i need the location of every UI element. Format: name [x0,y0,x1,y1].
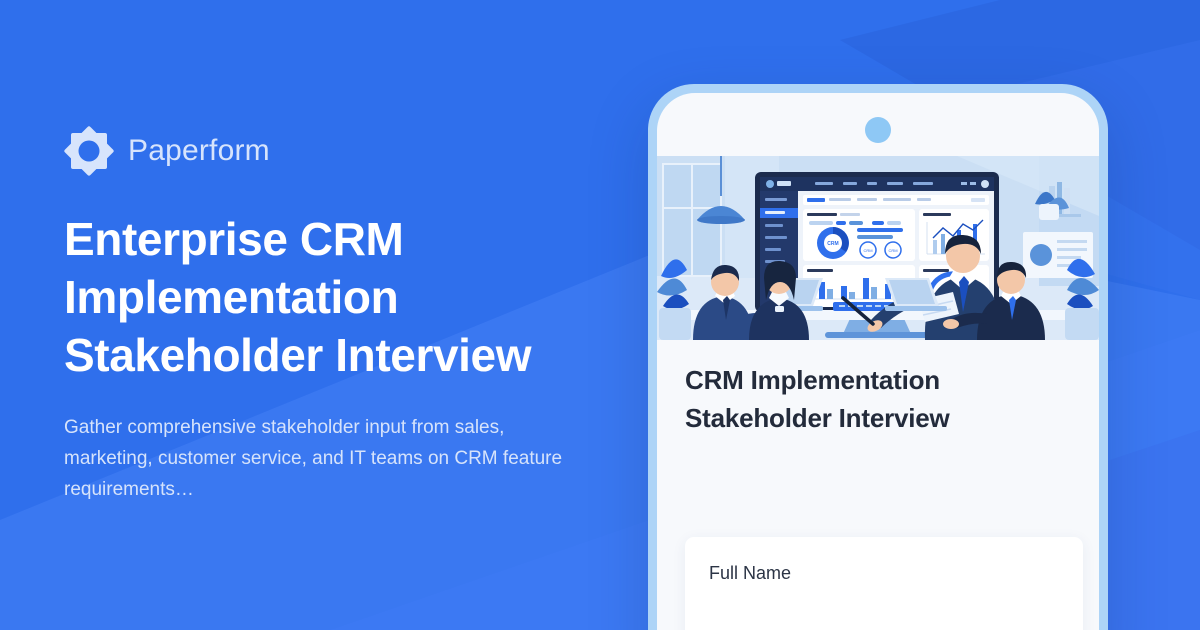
crm-team-meeting-illustration: CRM CRM CRM [657,156,1099,340]
front-camera-dot-icon [865,117,891,143]
form-title: CRM Implementation Stakeholder Interview [685,361,1055,437]
paperform-star-logo-icon [64,126,114,176]
phone-screen: CRM CRM CRM [657,93,1099,630]
hero-text-column: Paperform Enterprise CRM Implementation … [64,0,624,630]
phone-mockup: CRM CRM CRM [648,84,1108,630]
svg-text:CRM: CRM [827,241,838,247]
svg-text:CRM: CRM [888,248,897,253]
brand-lockup: Paperform [64,126,624,176]
brand-name: Paperform [128,134,270,168]
svg-text:CRM: CRM [863,248,872,253]
page-title: Enterprise CRM Implementation Stakeholde… [64,210,604,384]
full-name-input[interactable] [709,597,1059,630]
full-name-label: Full Name [709,563,791,584]
page-description: Gather comprehensive stakeholder input f… [64,412,564,505]
form-field-card: Full Name [685,537,1083,630]
